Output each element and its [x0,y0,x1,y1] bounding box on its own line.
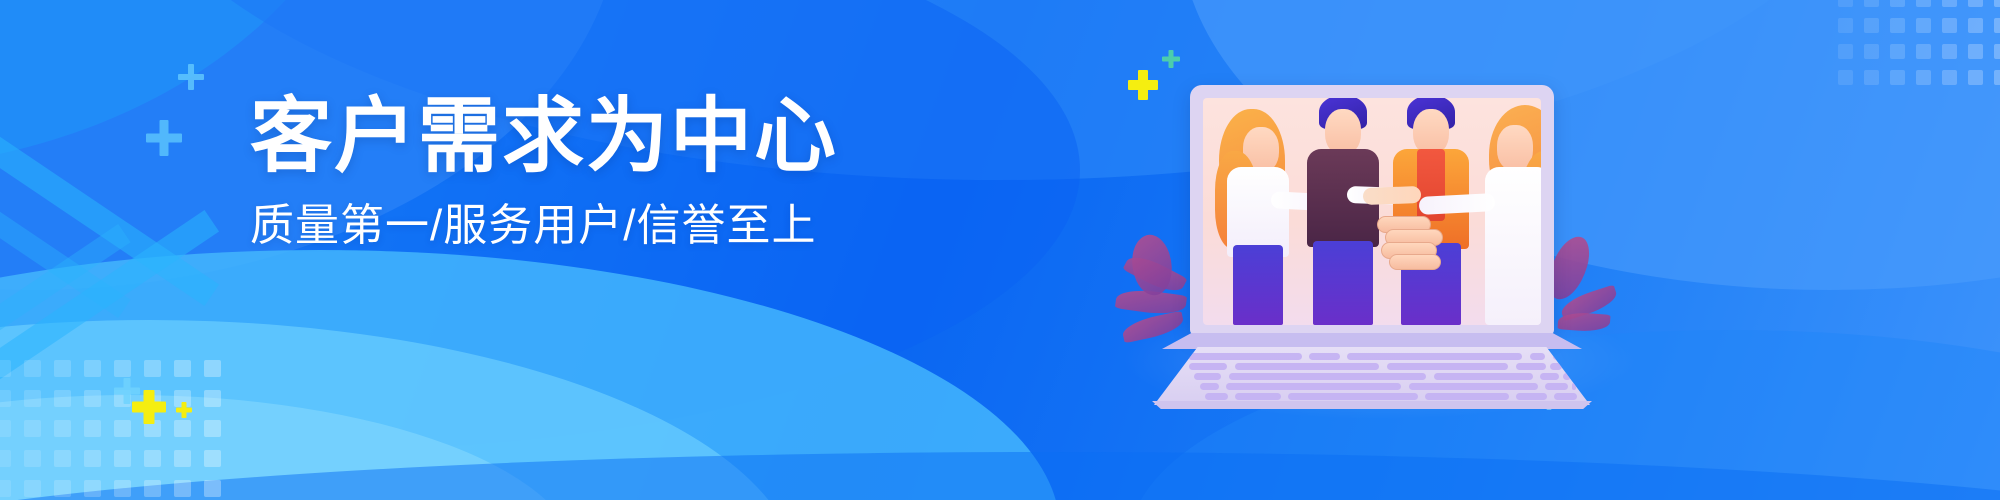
legs [1233,245,1283,325]
dot [84,360,101,377]
wave-shape-bottom-strip [0,452,2000,500]
wave-shape-bottom-left-2 [0,320,800,500]
background-decoration [0,0,2000,500]
chevron-icon [0,100,219,306]
keyboard-key [1516,363,1546,370]
keyboard-key [1387,363,1509,370]
dot [84,390,101,407]
dot [1864,0,1879,7]
dot [204,480,221,497]
keyboard-key [1516,393,1546,400]
keyboard-key [1425,393,1509,400]
laptop-screen [1203,98,1541,325]
keyboard-key [1540,373,1559,380]
dot [1916,0,1931,7]
dot [1838,70,1853,85]
keyboard-key [1409,383,1538,390]
dot [54,450,71,467]
keyboard-key [1572,383,1576,390]
keyboard-key [1545,383,1568,390]
chevron-icon [0,224,131,410]
dot [1994,44,2000,59]
dot [0,420,11,437]
dot [1968,70,1983,85]
dot [204,420,221,437]
dot [114,360,131,377]
dot [144,480,161,497]
plus-icon [1128,70,1158,100]
plus-icon [176,402,192,418]
plus-icon [1162,50,1180,68]
dot [1916,70,1931,85]
dot [84,420,101,437]
chevron-icon [0,210,219,416]
dot [24,450,41,467]
dot [174,420,191,437]
keyboard-key [1226,383,1401,390]
dot [1838,0,1853,7]
dot [204,360,221,377]
keyboard-key [1288,393,1417,400]
dot [1968,44,1983,59]
dot [1890,0,1905,7]
dot [1864,70,1879,85]
laptop-lid [1190,85,1554,335]
dot [174,480,191,497]
dot [0,360,11,377]
keyboard-key [1563,373,1571,380]
dot [1838,44,1853,59]
keyboard-key [1229,373,1427,380]
dot [1968,0,1983,7]
keyboard-key [1309,353,1339,360]
hand [1389,254,1441,270]
dot [54,390,71,407]
dot [24,420,41,437]
dot [1890,44,1905,59]
laptop-keyboard-edge [1152,401,1592,409]
dot [114,450,131,467]
dot [1942,70,1957,85]
dot [0,450,11,467]
dot [114,480,131,497]
dot [144,360,161,377]
plus-icon [132,390,166,424]
page-title: 客户需求为中心 [250,96,1010,178]
dot [1942,0,1957,7]
dot [174,360,191,377]
keyboard-key [1189,363,1227,370]
person-4 [1473,103,1541,325]
plus-icon [146,120,182,156]
dot [1864,18,1879,33]
banner-copy: 客户需求为中心 质量第一/服务用户/信誉至上 [250,96,1010,248]
keyboard-key [1554,393,1577,400]
keyboard-key [1194,373,1221,380]
plus-icon [178,64,204,90]
laptop-team-handshake-illustration [1162,85,1582,385]
dot [24,360,41,377]
dot [1916,44,1931,59]
keyboard-key [1188,353,1302,360]
dot [1994,70,2000,85]
dot [204,390,221,407]
torso [1227,167,1289,257]
dot [1890,70,1905,85]
dot [1968,18,1983,33]
dot [0,390,11,407]
arm [1363,186,1422,205]
dot [1838,18,1853,33]
banner-subtitle: 质量第一/服务用户/信誉至上 [250,204,1010,248]
dot [24,480,41,497]
dot [1890,18,1905,33]
dot [1994,0,2000,7]
torso [1485,167,1541,325]
dot [114,420,131,437]
legs [1313,241,1373,325]
keyboard-key [1434,373,1533,380]
arm [1419,193,1496,215]
keyboard-key [1235,393,1281,400]
marketing-banner: 客户需求为中心 质量第一/服务用户/信誉至上 [0,0,2000,500]
dot [174,450,191,467]
person-1 [1213,105,1299,325]
dot [1942,44,1957,59]
keyboard-key [1347,353,1522,360]
dot [0,480,11,497]
dot [1994,18,2000,33]
keyboard-key [1550,363,1561,370]
dot [1916,18,1931,33]
keyboard-key [1200,383,1219,390]
person-2 [1299,98,1385,325]
dot [84,450,101,467]
dot [24,390,41,407]
dot [54,360,71,377]
dot [144,450,161,467]
dot [54,420,71,437]
keyboard-key [1553,353,1561,360]
keyboard-key [1530,353,1545,360]
dot [1942,18,1957,33]
laptop-hinge [1162,333,1582,349]
dot [54,480,71,497]
stacked-hands [1371,216,1467,270]
dot [1864,44,1879,59]
laptop-keyboard [1154,347,1590,405]
keyboard-key [1205,393,1228,400]
keyboard-key [1235,363,1379,370]
dot [204,450,221,467]
dot [84,480,101,497]
chevron-icon [0,132,131,318]
